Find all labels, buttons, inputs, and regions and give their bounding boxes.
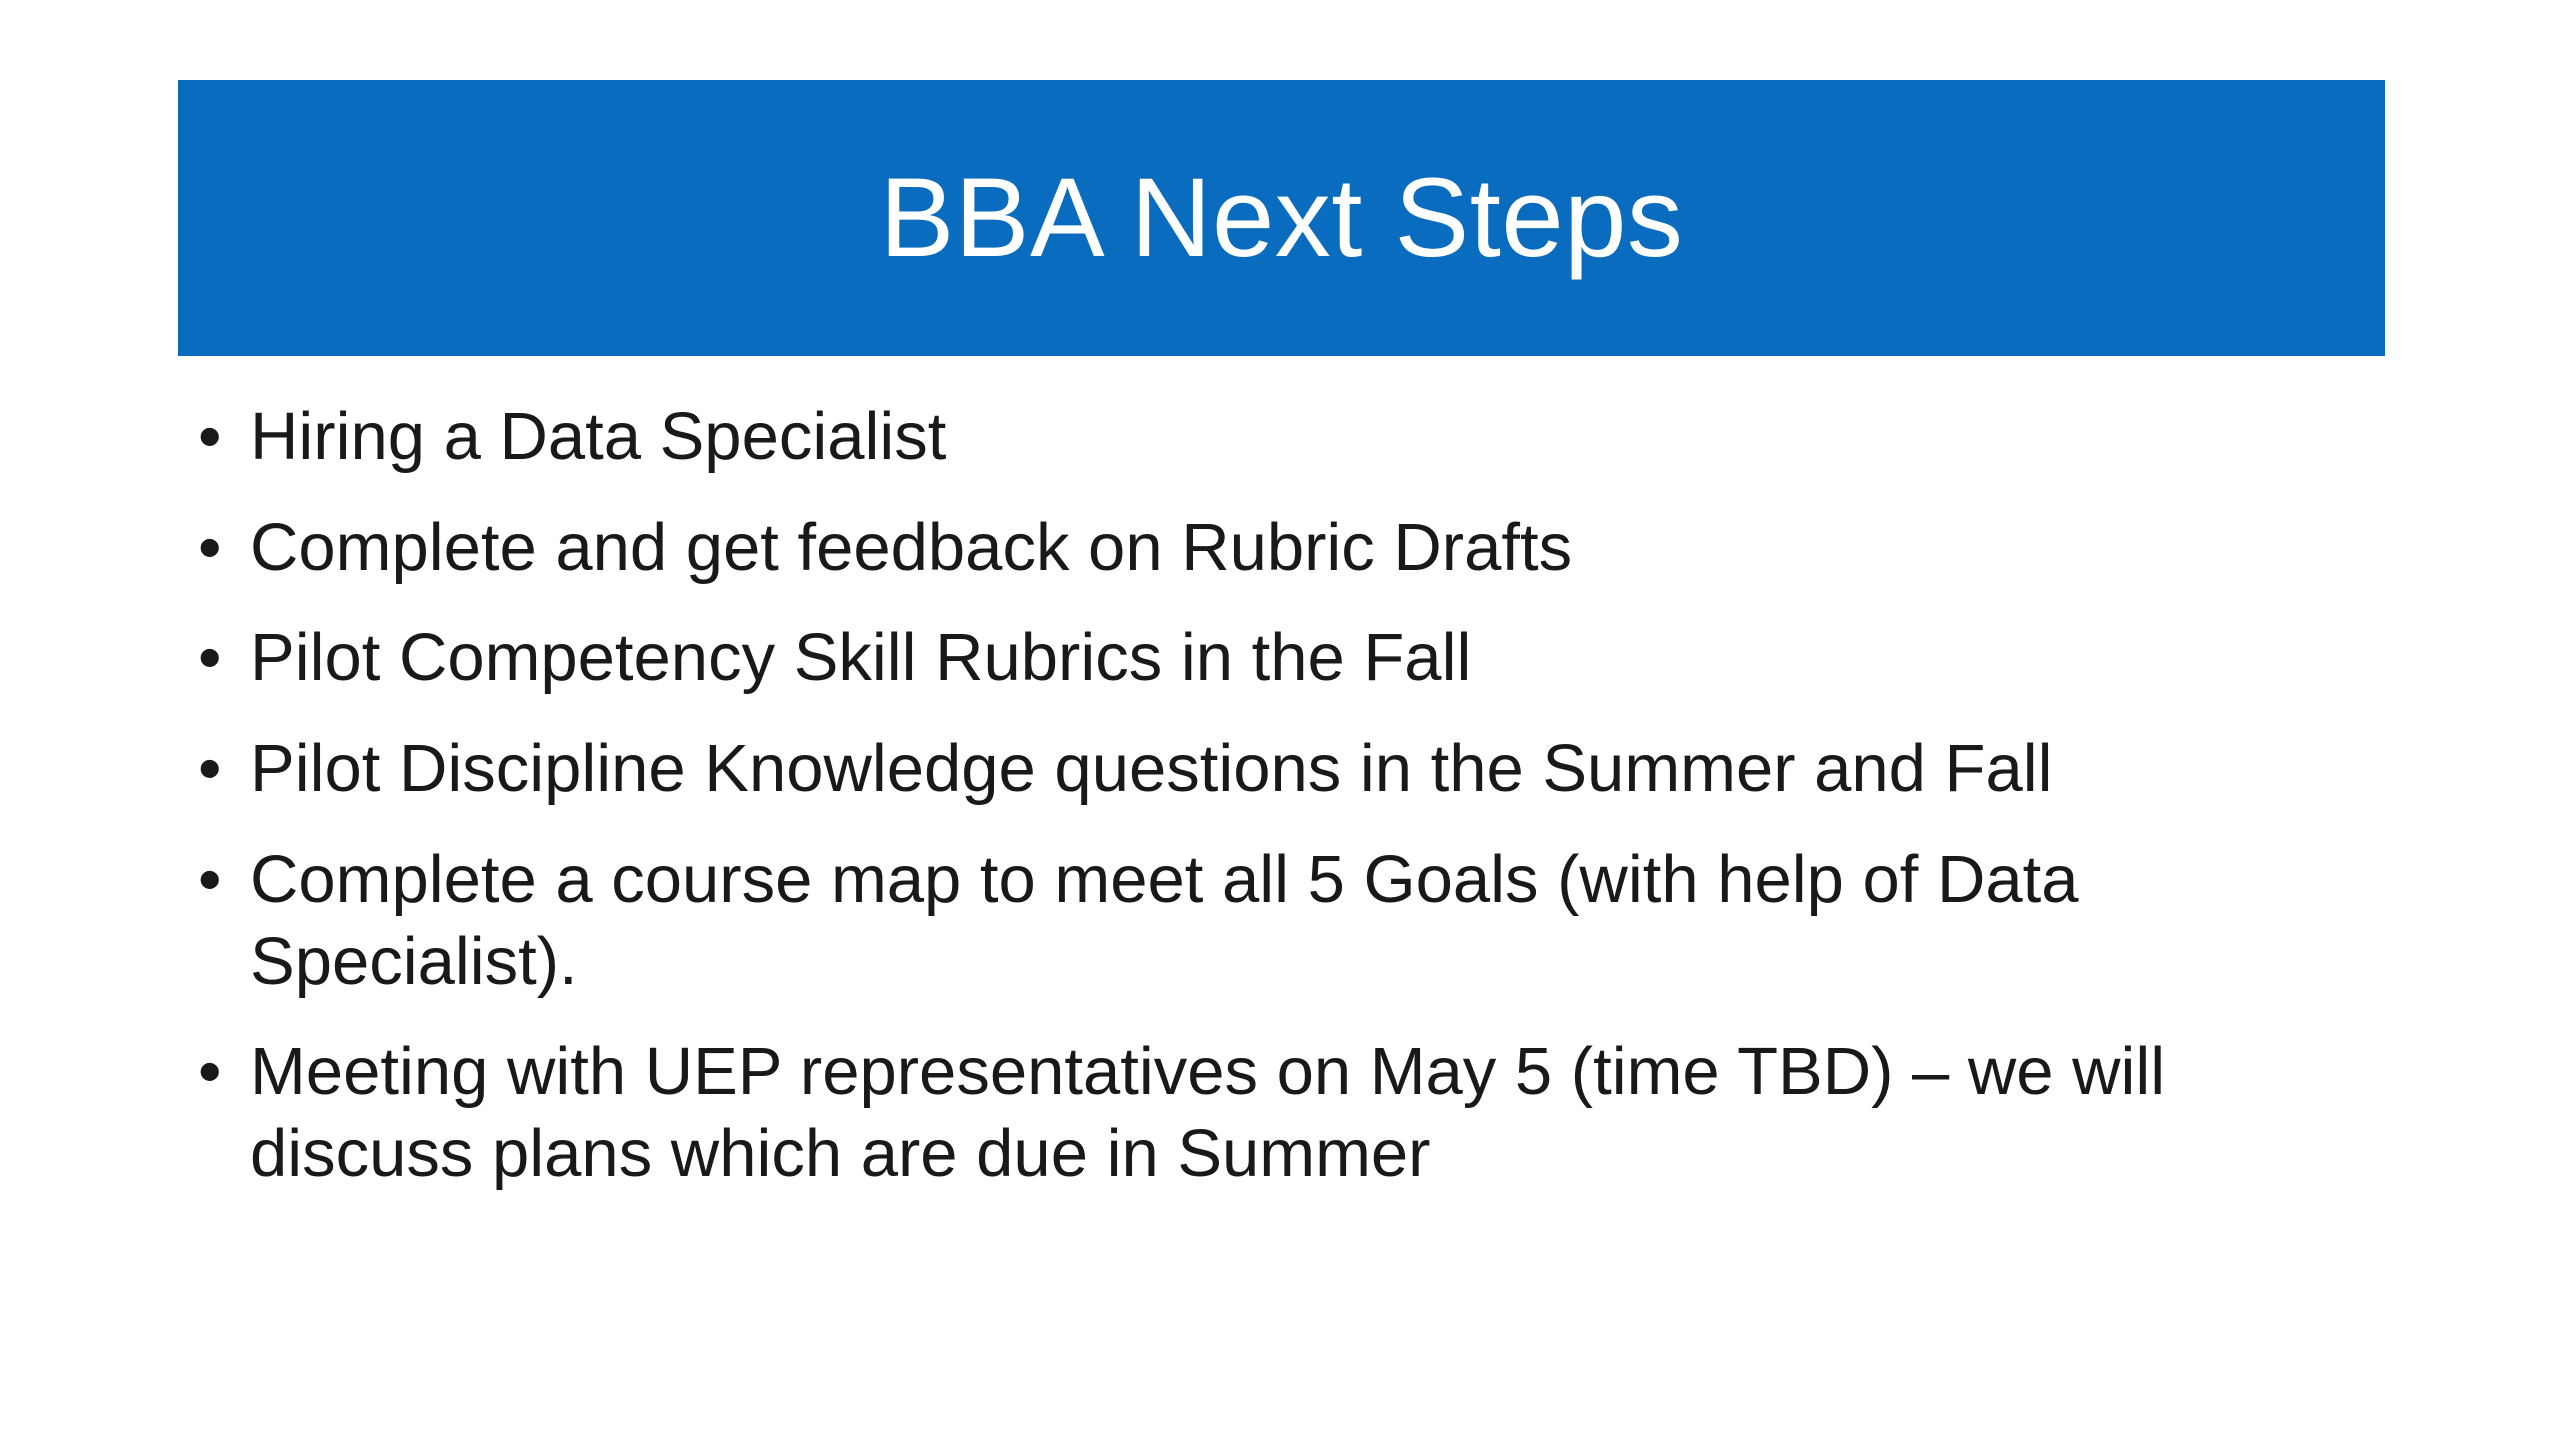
list-item-label: Pilot Competency Skill Rubrics in the Fa… (250, 617, 2416, 699)
slide-bullet-list: • Hiring a Data Specialist • Complete an… (196, 396, 2416, 1195)
list-item-label: Hiring a Data Specialist (250, 396, 2416, 478)
bullet-point-icon: • (198, 617, 238, 699)
presentation-slide: BBA Next Steps • Hiring a Data Specialis… (0, 0, 2560, 1440)
list-item-label: Meeting with UEP representatives on May … (250, 1031, 2260, 1194)
slide-title-banner: BBA Next Steps (178, 80, 2385, 356)
bullet-point-icon: • (198, 396, 238, 478)
list-item[interactable]: • Complete and get feedback on Rubric Dr… (196, 507, 2416, 589)
bullet-point-icon: • (198, 839, 238, 921)
bullet-point-icon: • (198, 1031, 238, 1113)
bullet-point-icon: • (198, 507, 238, 589)
bullet-point-icon: • (198, 728, 238, 810)
list-item-label: Complete a course map to meet all 5 Goal… (250, 839, 2180, 1002)
list-item[interactable]: • Hiring a Data Specialist (196, 396, 2416, 478)
list-item[interactable]: • Meeting with UEP representatives on Ma… (196, 1031, 2416, 1194)
list-item[interactable]: • Complete a course map to meet all 5 Go… (196, 839, 2416, 1002)
page-title: BBA Next Steps (880, 159, 1684, 277)
list-item-label: Complete and get feedback on Rubric Draf… (250, 507, 2416, 589)
list-item[interactable]: • Pilot Competency Skill Rubrics in the … (196, 617, 2416, 699)
list-item[interactable]: • Pilot Discipline Knowledge questions i… (196, 728, 2416, 810)
list-item-label: Pilot Discipline Knowledge questions in … (250, 728, 2416, 810)
